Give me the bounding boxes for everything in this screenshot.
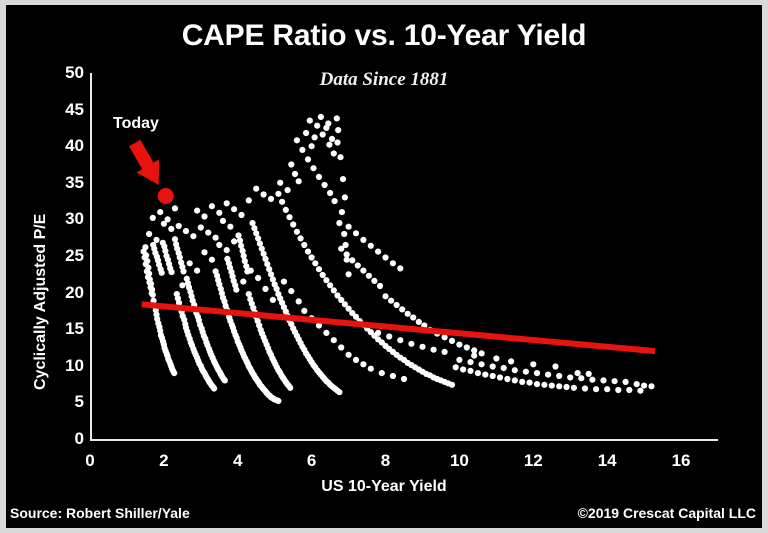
today-arrow-icon: [129, 140, 159, 185]
y-tick-label: 45: [50, 101, 84, 118]
source-text: Source: Robert Shiller/Yale: [10, 505, 190, 521]
y-tick-label: 15: [50, 320, 84, 337]
chart-title: CAPE Ratio vs. 10-Year Yield: [6, 19, 762, 53]
x-tick-label: 4: [223, 452, 253, 469]
data-points: [141, 114, 655, 404]
x-tick-label: 0: [75, 452, 105, 469]
x-tick-label: 2: [149, 452, 179, 469]
y-tick-label: 20: [50, 284, 84, 301]
x-tick-label: 8: [371, 452, 401, 469]
x-tick-label: 10: [444, 452, 474, 469]
y-axis-line: [90, 73, 92, 441]
y-tick-label: 0: [50, 430, 84, 447]
chart-plot-area: CAPE Ratio vs. 10-Year Yield Data Since …: [6, 5, 762, 528]
chart-subtitle: Data Since 1881: [6, 69, 762, 91]
y-tick-label: 10: [50, 357, 84, 374]
y-tick-label: 35: [50, 174, 84, 191]
x-axis-line: [90, 439, 718, 441]
x-tick-label: 14: [592, 452, 622, 469]
trendline: [142, 304, 655, 351]
today-marker: [158, 188, 174, 204]
x-tick-label: 6: [297, 452, 327, 469]
x-tick-label: 12: [518, 452, 548, 469]
x-axis-label: US 10-Year Yield: [6, 478, 762, 496]
y-tick-label: 40: [50, 137, 84, 154]
y-axis-label: Cyclically Adjusted P/E: [32, 214, 50, 390]
today-annotation-label: Today: [113, 115, 159, 133]
chart-container: CAPE Ratio vs. 10-Year Yield Data Since …: [0, 0, 768, 533]
y-tick-label: 50: [50, 64, 84, 81]
y-tick-label: 25: [50, 247, 84, 264]
y-axis-ticks: 50454035302520151050: [50, 5, 84, 528]
x-tick-label: 16: [666, 452, 696, 469]
y-tick-label: 30: [50, 210, 84, 227]
y-tick-label: 5: [50, 393, 84, 410]
copyright-text: ©2019 Crescat Capital LLC: [578, 505, 756, 521]
